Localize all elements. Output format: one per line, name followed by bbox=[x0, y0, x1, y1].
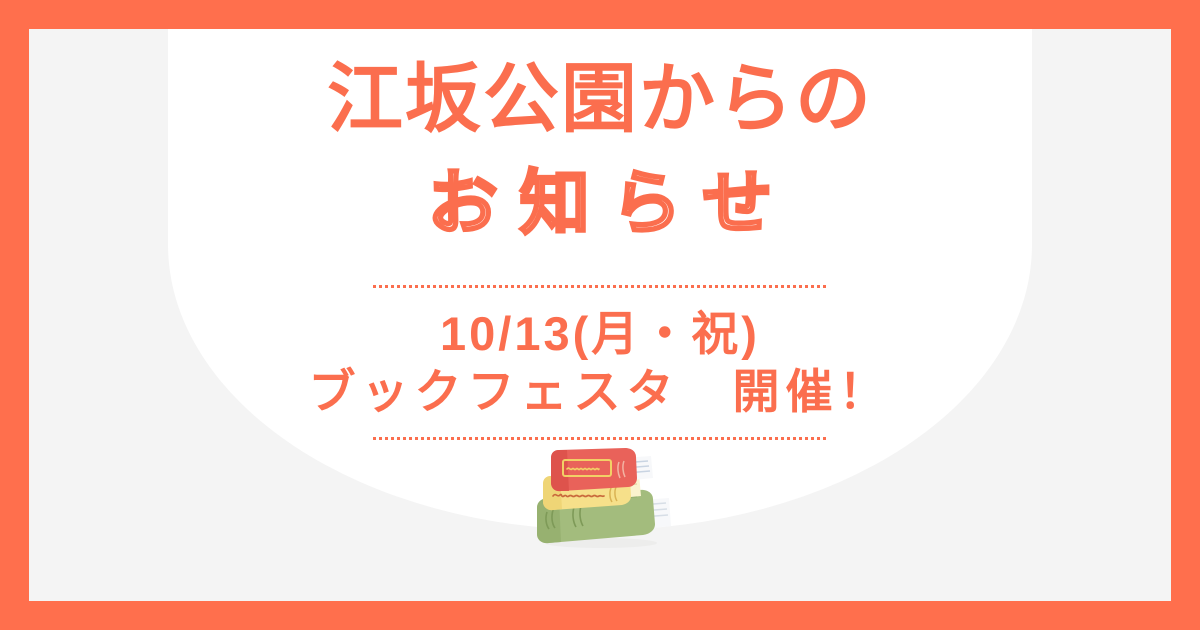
headline-line-2: お知らせ bbox=[0, 168, 1200, 238]
event-title: ブックフェスタ 開催！ bbox=[0, 368, 1200, 415]
poster-root: 江坂公園からの お知らせ 10/13(月・祝) ブックフェスタ 開催！ bbox=[0, 0, 1200, 630]
event-date: 10/13(月・祝) bbox=[0, 310, 1200, 357]
divider-bottom bbox=[373, 437, 827, 440]
stack-of-books-icon bbox=[519, 446, 681, 550]
divider-top bbox=[373, 285, 827, 288]
headline-line-1: 江坂公園からの bbox=[0, 62, 1200, 138]
poster-content: 江坂公園からの お知らせ 10/13(月・祝) ブックフェスタ 開催！ bbox=[0, 0, 1200, 630]
